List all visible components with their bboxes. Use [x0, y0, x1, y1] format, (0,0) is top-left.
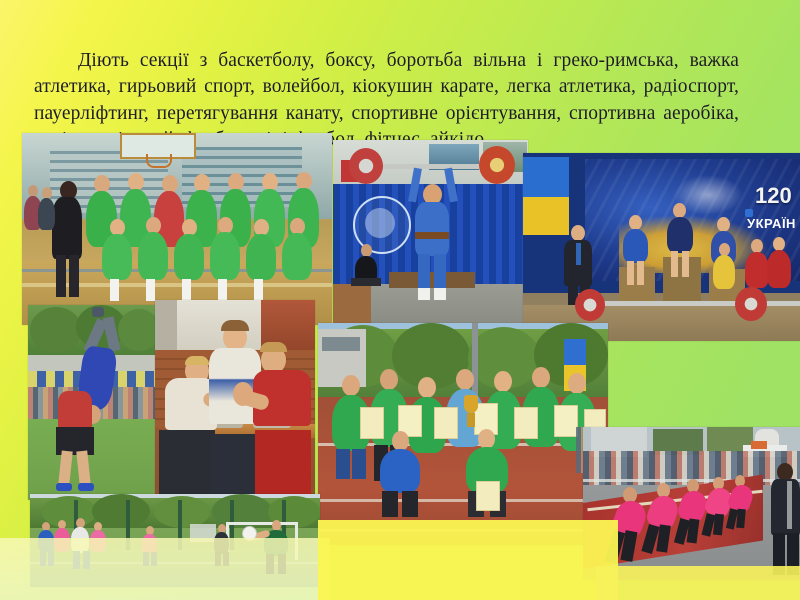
bottom-left-yellow-wedge	[0, 538, 330, 600]
banner-number: 120	[755, 183, 792, 209]
photo-basketball-team: Жіноча баскетбольна команда у зеленій фо…	[22, 133, 332, 325]
photo-wrestling-throw: Боротьба: кидок суперника через себе на …	[28, 305, 156, 500]
photo-award-podium: 120 УКРАЇН морш	[523, 153, 800, 341]
bottom-centre-yellow-wedge	[318, 520, 618, 600]
presentation-slide: Діють секції з баскетболу, боксу, бороть…	[0, 0, 800, 600]
banner-country: УКРАЇН	[747, 216, 796, 231]
photo-green-team-awards: Команда у зелених футболках з грамотами …	[318, 323, 608, 545]
photo-weightlifting: Важкоатлет у синьому трико піднімає штан…	[333, 140, 528, 326]
photo-arm-wrestling: Армрестлінг: двоє юнаків за столом і суд…	[155, 300, 315, 498]
bottom-right-yellow-strip	[596, 566, 800, 600]
